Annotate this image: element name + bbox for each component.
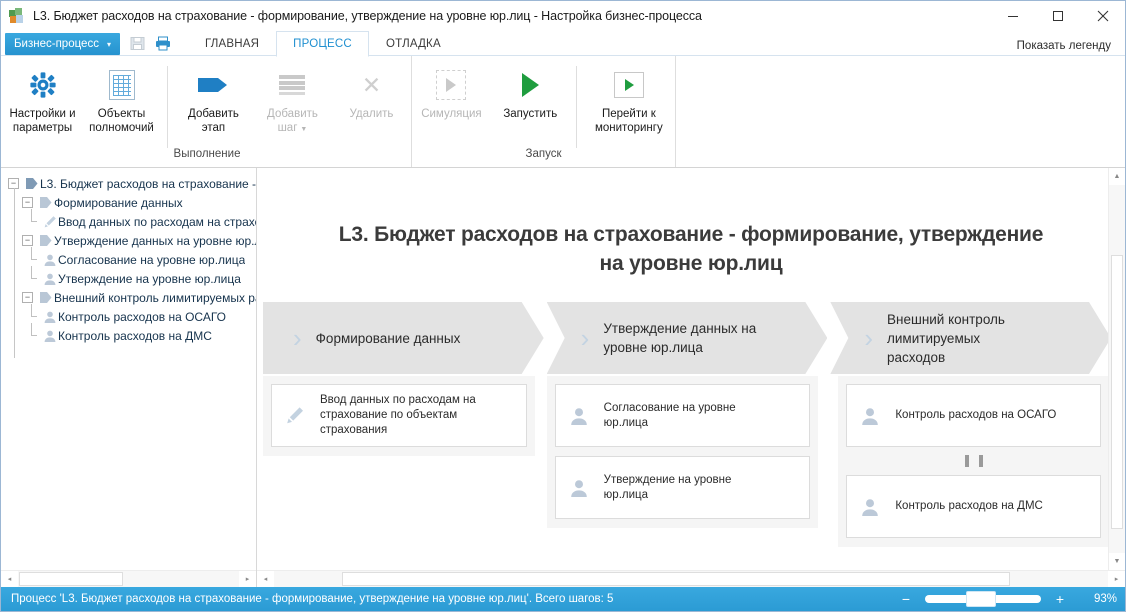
- tree-node-stage-3[interactable]: − Внешний контроль лимитируемых расхо: [1, 288, 256, 307]
- stage-name-3: Внешний контроль лимитируемых расходов: [887, 310, 1005, 367]
- diagram-horizontal-scrollbar[interactable]: ◂ ▸: [257, 570, 1125, 587]
- stage-columns: › Формирование данных Ввод данных по рас…: [257, 278, 1125, 547]
- person-icon: [41, 272, 58, 286]
- delete-button[interactable]: ✕ Удалить: [332, 62, 411, 140]
- stage-body-1: Ввод данных по расходам на страхование п…: [263, 376, 535, 456]
- stage-column-3: › Внешний контроль лимитируемых расходов: [830, 302, 1111, 547]
- tree-node-stage-1[interactable]: − Формирование данных: [1, 193, 256, 212]
- scroll-up-button[interactable]: ▲: [1109, 168, 1125, 185]
- ribbon-group-launch: Симуляция Запустить П: [412, 56, 676, 167]
- diagram-panel: L3. Бюджет расходов на страхование - фор…: [257, 168, 1125, 587]
- simulation-button[interactable]: Симуляция: [412, 62, 491, 140]
- tree-elbow: [28, 307, 41, 326]
- authority-objects-label: Объекты полномочий: [87, 107, 156, 135]
- scroll-left-button[interactable]: ◂: [1, 571, 18, 587]
- tree-node-label: Внешний контроль лимитируемых расхо: [54, 291, 256, 305]
- authority-objects-button[interactable]: Объекты полномочий: [82, 62, 161, 140]
- process-tree[interactable]: − L3. Бюджет расходов на страхование - ф…: [1, 168, 256, 570]
- monitor-play-icon: [614, 68, 644, 102]
- diagram-hscroll-track[interactable]: [274, 571, 1108, 587]
- zoom-slider-thumb[interactable]: [966, 591, 996, 607]
- person-icon: [859, 406, 881, 426]
- print-icon[interactable]: [152, 33, 174, 54]
- title-bar: L3. Бюджет расходов на страхование - фор…: [1, 1, 1125, 30]
- status-bar: Процесс 'L3. Бюджет расходов на страхова…: [1, 587, 1125, 611]
- scroll-right-button[interactable]: ▸: [1108, 571, 1125, 587]
- tree-elbow: [28, 250, 41, 269]
- close-x-icon: ✕: [362, 68, 381, 102]
- pencil-icon: [284, 406, 306, 426]
- maximize-button[interactable]: [1035, 1, 1080, 30]
- step-card-label: Контроль расходов на ОСАГО: [895, 408, 1056, 423]
- stage-arrow-icon: [37, 235, 54, 246]
- tree-node-step-approval[interactable]: Согласование на уровне юр.лица: [1, 250, 256, 269]
- save-icon[interactable]: [127, 33, 149, 54]
- ribbon-group-execution-title: Выполнение: [3, 148, 411, 167]
- tree-node-label: Согласование на уровне юр.лица: [58, 253, 245, 267]
- stage-body-2: Согласование на уровне юр.лица Утвержден…: [547, 376, 818, 528]
- add-stage-button[interactable]: Добавить этап: [174, 62, 253, 140]
- chevron-right-icon: ›: [581, 325, 590, 351]
- gear-icon: [28, 68, 58, 102]
- zoom-slider[interactable]: [925, 595, 1041, 603]
- close-button[interactable]: [1080, 1, 1125, 30]
- tree-node-step-dms[interactable]: Контроль расходов на ДМС: [1, 326, 256, 345]
- ribbon-divider: [576, 66, 577, 148]
- tree-node-label: Ввод данных по расходам на страхов: [58, 215, 256, 229]
- step-card-label: Ввод данных по расходам на страхование п…: [320, 393, 476, 438]
- main-body: − L3. Бюджет расходов на страхование - ф…: [1, 168, 1125, 587]
- person-icon: [568, 406, 590, 426]
- step-card-label: Утверждение на уровне юр.лица: [604, 473, 732, 503]
- app-blocks-icon: [9, 8, 25, 24]
- go-to-monitoring-button[interactable]: Перейти к мониторингу: [583, 62, 675, 140]
- step-card-approval[interactable]: Согласование на уровне юр.лица: [555, 384, 810, 447]
- step-card-dms[interactable]: Контроль расходов на ДМС: [846, 475, 1101, 538]
- diagram-title: L3. Бюджет расходов на страхование - фор…: [257, 168, 1125, 278]
- run-button[interactable]: Запустить: [491, 62, 570, 140]
- process-arrow-icon: [23, 178, 40, 189]
- quick-access-toolbar: [127, 33, 174, 54]
- chevron-right-icon: ›: [293, 325, 302, 351]
- settings-and-parameters-button[interactable]: Настройки и параметры: [3, 62, 82, 140]
- tab-glavnaya[interactable]: ГЛАВНАЯ: [188, 31, 276, 56]
- step-card-confirm[interactable]: Утверждение на уровне юр.лица: [555, 456, 810, 519]
- zoom-percent-label: 93%: [1079, 593, 1117, 605]
- scroll-left-button[interactable]: ◂: [257, 571, 274, 587]
- stage-arrow-icon: [37, 292, 54, 303]
- diagram-vertical-scrollbar[interactable]: ▲ ▼: [1108, 168, 1125, 570]
- step-card-input-data[interactable]: Ввод данных по расходам на страхование п…: [271, 384, 527, 447]
- step-card-osago[interactable]: Контроль расходов на ОСАГО: [846, 384, 1101, 447]
- tree-node-label: Формирование данных: [54, 196, 183, 210]
- ribbon-tab-strip: Бизнес-процесс ▾ ГЛАВНАЯ ПРОЦЕСС: [1, 30, 1125, 56]
- tree-node-stage-2[interactable]: − Утверждение данных на уровне юр.лиц: [1, 231, 256, 250]
- zoom-out-button[interactable]: −: [897, 592, 915, 606]
- chevron-right-icon: ›: [864, 325, 873, 351]
- settings-and-parameters-label: Настройки и параметры: [7, 107, 77, 135]
- process-tree-panel: − L3. Бюджет расходов на страхование - ф…: [1, 168, 257, 587]
- tree-node-step-input-data[interactable]: Ввод данных по расходам на страхов: [1, 212, 256, 231]
- tree-elbow: [28, 326, 41, 345]
- play-outline-icon: [436, 68, 466, 102]
- step-card-label: Согласование на уровне юр.лица: [604, 401, 736, 431]
- person-icon: [568, 478, 590, 498]
- ribbon-divider: [167, 66, 168, 148]
- person-icon: [41, 329, 58, 343]
- tree-node-label: L3. Бюджет расходов на страхование - фо: [40, 177, 256, 191]
- window-title: L3. Бюджет расходов на страхование - фор…: [33, 9, 702, 23]
- stage-header-3[interactable]: › Внешний контроль лимитируемых расходов: [830, 302, 1111, 374]
- tree-elbow: [28, 269, 41, 288]
- ribbon: Настройки и параметры Объекты полномочий: [1, 56, 1125, 168]
- tree-node-label: Утверждение на уровне юр.лица: [58, 272, 241, 286]
- chevron-down-icon: ▾: [107, 40, 111, 49]
- application-window: L3. Бюджет расходов на страхование - фор…: [0, 0, 1126, 612]
- tab-process[interactable]: ПРОЦЕСС: [276, 31, 369, 57]
- tree-elbow: [28, 212, 41, 231]
- go-to-monitoring-label: Перейти к мониторингу: [593, 107, 665, 135]
- tree-node-step-confirm[interactable]: Утверждение на уровне юр.лица: [1, 269, 256, 288]
- ribbon-tabs: ГЛАВНАЯ ПРОЦЕСС ОТЛАДКА: [188, 30, 458, 56]
- business-process-menu-button[interactable]: Бизнес-процесс ▾: [5, 33, 120, 55]
- person-icon: [859, 497, 881, 517]
- stage-column-1: › Формирование данных Ввод данных по рас…: [263, 302, 544, 456]
- collapse-toggle[interactable]: −: [22, 235, 33, 246]
- add-stage-label: Добавить этап: [186, 107, 241, 135]
- tab-otladka[interactable]: ОТЛАДКА: [369, 31, 458, 56]
- steps-icon: [279, 68, 305, 102]
- tree-node-process[interactable]: − L3. Бюджет расходов на страхование - ф…: [1, 174, 256, 193]
- simulation-label: Симуляция: [419, 107, 483, 121]
- stage-name-2: Утверждение данных на уровне юр.лица: [603, 319, 756, 357]
- zoom-control: − + 93%: [897, 592, 1125, 606]
- sequence-separator: [846, 455, 1101, 467]
- window-controls: [990, 1, 1125, 30]
- document-table-icon: [109, 68, 135, 102]
- chevron-down-icon[interactable]: ▼: [300, 126, 307, 133]
- stage-arrow-icon: [37, 197, 54, 208]
- business-process-menu-label: Бизнес-процесс: [14, 38, 99, 50]
- minimize-button[interactable]: [990, 1, 1035, 30]
- tree-hscroll-thumb[interactable]: [19, 572, 123, 586]
- scroll-right-button[interactable]: ▸: [239, 571, 256, 587]
- tree-hscroll-track[interactable]: [18, 571, 239, 587]
- step-card-label: Контроль расходов на ДМС: [895, 499, 1042, 514]
- tree-node-step-osago[interactable]: Контроль расходов на ОСАГО: [1, 307, 256, 326]
- add-step-button[interactable]: Добавить шаг▼: [253, 62, 332, 140]
- tree-node-label: Контроль расходов на ОСАГО: [58, 310, 226, 324]
- stage-name-1: Формирование данных: [316, 329, 461, 348]
- pencil-icon: [41, 215, 58, 229]
- scroll-down-button[interactable]: ▼: [1109, 553, 1125, 570]
- vscroll-thumb[interactable]: [1111, 255, 1123, 529]
- ribbon-group-launch-title: Запуск: [412, 148, 675, 167]
- delete-label: Удалить: [348, 107, 396, 121]
- tree-node-label: Контроль расходов на ДМС: [58, 329, 212, 343]
- person-icon: [41, 310, 58, 324]
- vscroll-track[interactable]: [1109, 185, 1125, 553]
- stage-body-3: Контроль расходов на ОСАГО Контроль расх…: [838, 376, 1109, 547]
- tree-horizontal-scrollbar[interactable]: ◂ ▸: [1, 570, 256, 587]
- stage-column-2: › Утверждение данных на уровне юр.лица: [547, 302, 828, 528]
- show-legend-link[interactable]: Показать легенду: [1017, 40, 1111, 52]
- collapse-toggle[interactable]: −: [22, 292, 33, 303]
- person-icon: [41, 253, 58, 267]
- ribbon-group-execution: Настройки и параметры Объекты полномочий: [3, 56, 412, 167]
- collapse-toggle[interactable]: −: [22, 197, 33, 208]
- status-message: Процесс 'L3. Бюджет расходов на страхова…: [11, 593, 613, 605]
- tree-node-label: Утверждение данных на уровне юр.лиц: [54, 234, 256, 248]
- diagram-canvas[interactable]: L3. Бюджет расходов на страхование - фор…: [257, 168, 1125, 570]
- add-step-label: Добавить шаг▼: [265, 107, 320, 137]
- stage-header-1[interactable]: › Формирование данных: [263, 302, 544, 374]
- diagram-hscroll-thumb[interactable]: [342, 572, 1010, 586]
- zoom-in-button[interactable]: +: [1051, 592, 1069, 606]
- tree-guide-line: [14, 188, 15, 358]
- stage-arrow-icon: [197, 68, 229, 102]
- run-label: Запустить: [501, 107, 559, 121]
- stage-header-2[interactable]: › Утверждение данных на уровне юр.лица: [547, 302, 828, 374]
- play-green-icon: [519, 68, 541, 102]
